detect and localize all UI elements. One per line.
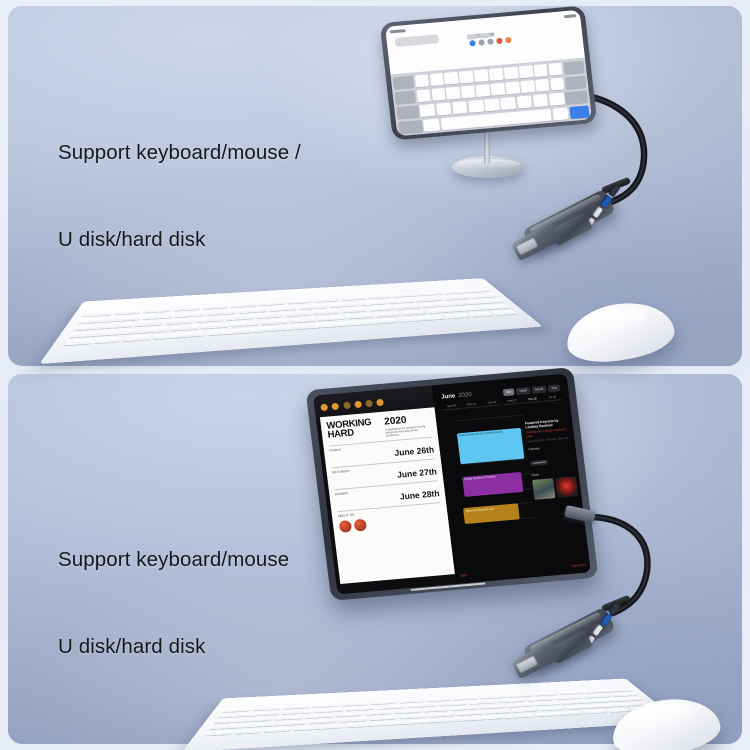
- usb-c-hub-top[interactable]: [505, 186, 625, 282]
- color-icon[interactable]: [377, 399, 385, 407]
- suggestion-chip[interactable]: [479, 32, 490, 38]
- key[interactable]: [550, 77, 565, 90]
- day-column[interactable]: Tue 26: [483, 399, 502, 407]
- calendar-month: June: [441, 394, 456, 401]
- caption-bottom: Support keyboard/mouse U disk/hard disk: [58, 487, 295, 719]
- clear-event-button[interactable]: Clear Event: [571, 563, 586, 568]
- key[interactable]: [461, 85, 476, 98]
- key[interactable]: [520, 80, 535, 93]
- status-icons: [564, 14, 576, 18]
- key[interactable]: [426, 697, 452, 701]
- media-thumbnails[interactable]: [532, 476, 579, 500]
- key[interactable]: [312, 309, 339, 315]
- key[interactable]: [335, 712, 362, 717]
- key[interactable]: [328, 302, 356, 307]
- key[interactable]: [231, 321, 258, 327]
- status-time: [390, 29, 406, 33]
- key[interactable]: [446, 86, 461, 99]
- command-key[interactable]: [398, 315, 445, 322]
- caption-top-line1: Support keyboard/mouse /: [58, 138, 301, 167]
- key[interactable]: [370, 715, 397, 720]
- key[interactable]: [366, 294, 392, 299]
- fn-key[interactable]: [64, 339, 94, 346]
- key[interactable]: [489, 68, 504, 81]
- key[interactable]: [478, 704, 505, 709]
- smartphone-body: [380, 5, 598, 140]
- caption-top-line2: U disk/hard disk: [58, 225, 301, 254]
- key[interactable]: [142, 313, 173, 319]
- brush-icon[interactable]: [320, 404, 328, 412]
- key[interactable]: [438, 701, 466, 706]
- eraser-icon[interactable]: [343, 402, 351, 410]
- product-feature-page: Support keyboard/mouse / U disk/hard dis…: [0, 0, 750, 750]
- key[interactable]: [417, 291, 443, 296]
- document-year-block: 2020 A schedule of the sessions running …: [384, 412, 432, 437]
- key[interactable]: [416, 89, 431, 102]
- key[interactable]: [538, 706, 565, 711]
- key[interactable]: [305, 714, 333, 719]
- hub-port-usb-a[interactable]: [592, 206, 603, 218]
- key[interactable]: [260, 319, 287, 325]
- pen-icon[interactable]: [332, 403, 340, 411]
- command-key[interactable]: [153, 331, 205, 339]
- emoji-icon[interactable]: [487, 38, 494, 44]
- key[interactable]: [312, 703, 339, 708]
- key[interactable]: [459, 70, 474, 83]
- calendar-event[interactable]: Featured Keynote by Lindsay Buckner: [457, 427, 525, 464]
- option-key[interactable]: [582, 709, 607, 714]
- key[interactable]: [165, 318, 194, 324]
- smartphone-screen[interactable]: [385, 10, 592, 136]
- command-key[interactable]: [292, 724, 343, 731]
- tablet[interactable]: WORKING HARD 2020 A schedule of the sess…: [306, 367, 599, 601]
- key[interactable]: [552, 107, 569, 120]
- key[interactable]: [399, 714, 426, 719]
- calendar-year: 2020: [458, 392, 472, 399]
- media-thumbnail[interactable]: [532, 478, 556, 500]
- key[interactable]: [340, 717, 367, 722]
- key[interactable]: [414, 297, 442, 302]
- emoji-icon[interactable]: [469, 40, 476, 46]
- tablet-body: WORKING HARD 2020 A schedule of the sess…: [306, 367, 599, 601]
- key[interactable]: [386, 298, 414, 303]
- key[interactable]: [394, 709, 420, 714]
- key[interactable]: [452, 101, 468, 114]
- key[interactable]: [346, 706, 375, 711]
- key[interactable]: [289, 317, 316, 323]
- key[interactable]: [453, 696, 479, 700]
- key[interactable]: [83, 311, 113, 317]
- fn-key[interactable]: [205, 730, 234, 736]
- key[interactable]: [451, 706, 478, 711]
- key[interactable]: [170, 325, 199, 331]
- media-thumbnail[interactable]: [555, 476, 579, 498]
- arrow-key[interactable]: [492, 310, 518, 315]
- key[interactable]: [436, 102, 452, 115]
- key[interactable]: [365, 710, 392, 715]
- key[interactable]: [393, 76, 414, 90]
- key[interactable]: [444, 72, 459, 85]
- key[interactable]: [339, 307, 366, 313]
- key[interactable]: [548, 62, 563, 75]
- key[interactable]: [500, 97, 516, 110]
- key[interactable]: [340, 296, 366, 301]
- key[interactable]: [484, 709, 511, 714]
- key[interactable]: [563, 61, 584, 75]
- key[interactable]: [394, 304, 421, 309]
- key[interactable]: [484, 98, 500, 111]
- key[interactable]: [309, 719, 337, 724]
- segment-week[interactable]: Week: [516, 387, 530, 395]
- key[interactable]: [533, 701, 560, 705]
- return-key[interactable]: [569, 105, 589, 118]
- key[interactable]: [392, 293, 418, 298]
- key[interactable]: [429, 73, 444, 86]
- calendar-detail-sidebar: Featured Keynote by Lindsay Buckner Open…: [525, 418, 579, 500]
- key[interactable]: [377, 705, 405, 710]
- option-key[interactable]: [444, 313, 469, 319]
- key[interactable]: [408, 703, 436, 708]
- calendar-event[interactable]: Design Systems in Practice: [462, 471, 524, 497]
- option-key[interactable]: [124, 335, 152, 342]
- shapes-icon[interactable]: [354, 401, 362, 409]
- key[interactable]: [535, 79, 550, 92]
- key[interactable]: [370, 700, 396, 704]
- key[interactable]: [255, 313, 282, 319]
- day-column[interactable]: Sun 24: [442, 403, 461, 411]
- control-key[interactable]: [94, 337, 123, 344]
- day-column[interactable]: Wed 27: [503, 397, 522, 405]
- key[interactable]: [398, 699, 424, 703]
- key[interactable]: [313, 297, 339, 302]
- key[interactable]: [345, 313, 372, 319]
- key[interactable]: [428, 712, 455, 717]
- key[interactable]: [400, 310, 427, 316]
- key[interactable]: [414, 74, 429, 87]
- segment-day[interactable]: Day: [503, 388, 515, 395]
- key[interactable]: [511, 708, 538, 713]
- key[interactable]: [201, 323, 229, 329]
- hub-port-usb-3[interactable]: [600, 613, 613, 627]
- key[interactable]: [431, 88, 446, 101]
- key[interactable]: [226, 315, 253, 321]
- calendar-app-pane[interactable]: June 2020 Day Week Month Year Sun 24 Mon…: [432, 374, 591, 584]
- tablet-screen[interactable]: WORKING HARD 2020 A schedule of the sess…: [313, 374, 591, 595]
- key[interactable]: [468, 99, 484, 112]
- control-key[interactable]: [235, 729, 263, 734]
- document-title: WORKING HARD: [326, 418, 373, 440]
- key[interactable]: [357, 300, 385, 305]
- avatar: [353, 519, 366, 532]
- key[interactable]: [196, 316, 224, 322]
- day-column-selected[interactable]: Thu 28: [523, 395, 542, 403]
- day-column[interactable]: Fri 29: [543, 394, 562, 402]
- segment-month[interactable]: Month: [532, 386, 547, 394]
- key[interactable]: [505, 81, 520, 94]
- smartphone[interactable]: [380, 5, 598, 140]
- shift-key[interactable]: [396, 105, 419, 119]
- key[interactable]: [506, 703, 533, 708]
- calendar-event[interactable]: Motion & Interaction Lab: [463, 504, 520, 525]
- key[interactable]: [299, 304, 327, 309]
- key[interactable]: [504, 66, 519, 79]
- key[interactable]: [317, 315, 344, 321]
- key[interactable]: [341, 702, 367, 707]
- key[interactable]: [456, 711, 483, 716]
- key[interactable]: [395, 90, 416, 104]
- key[interactable]: [474, 69, 489, 82]
- key[interactable]: [519, 65, 534, 78]
- key[interactable]: [565, 75, 586, 89]
- key[interactable]: [468, 293, 496, 298]
- hub-port-usb-a[interactable]: [592, 624, 603, 636]
- caption-bottom-line2: U disk/hard disk: [58, 632, 295, 661]
- key[interactable]: [467, 700, 495, 705]
- key[interactable]: [533, 94, 549, 107]
- key[interactable]: [420, 104, 436, 117]
- key[interactable]: [441, 295, 469, 300]
- message-bubble: [394, 34, 439, 47]
- suggestion-chip[interactable]: [466, 33, 477, 39]
- day-column[interactable]: Mon 25: [462, 401, 481, 409]
- numbers-key[interactable]: [398, 120, 423, 134]
- arrow-key[interactable]: [606, 708, 631, 713]
- key[interactable]: [175, 311, 205, 317]
- key[interactable]: [491, 83, 506, 96]
- key[interactable]: [423, 118, 440, 131]
- text-icon[interactable]: [365, 400, 373, 408]
- key[interactable]: [480, 695, 506, 699]
- caption-bottom-line1: Support keyboard/mouse: [58, 545, 295, 574]
- emoji-icon[interactable]: [478, 39, 485, 45]
- hub-port-usb-3[interactable]: [600, 195, 613, 209]
- key[interactable]: [549, 92, 565, 105]
- key[interactable]: [422, 707, 448, 712]
- avatar: [338, 520, 351, 533]
- segment-year[interactable]: Year: [548, 384, 561, 391]
- key[interactable]: [533, 64, 548, 77]
- usb-c-hub-bottom[interactable]: [505, 604, 625, 700]
- key[interactable]: [134, 320, 164, 326]
- calendar-footer[interactable]: Today Clear Event: [459, 563, 586, 578]
- backspace-key[interactable]: [565, 90, 588, 104]
- calendar-pill[interactable]: Conference: [530, 459, 549, 466]
- arrow-key[interactable]: [468, 312, 494, 318]
- key[interactable]: [373, 311, 400, 317]
- key[interactable]: [516, 95, 532, 108]
- option-key[interactable]: [264, 727, 291, 732]
- document-sheet[interactable]: WORKING HARD 2020 A schedule of the sess…: [319, 407, 455, 584]
- sidebar-section-heading: Calendar: [528, 443, 573, 451]
- phone-stand-neck: [484, 128, 490, 164]
- key[interactable]: [367, 306, 394, 311]
- emoji-icon[interactable]: [496, 38, 503, 44]
- key[interactable]: [314, 708, 344, 713]
- command-key[interactable]: [535, 711, 582, 717]
- key[interactable]: [476, 84, 491, 97]
- caption-top: Support keyboard/mouse / U disk/hard dis…: [58, 80, 301, 312]
- today-button[interactable]: Today: [459, 573, 467, 578]
- emoji-icon[interactable]: [505, 37, 512, 43]
